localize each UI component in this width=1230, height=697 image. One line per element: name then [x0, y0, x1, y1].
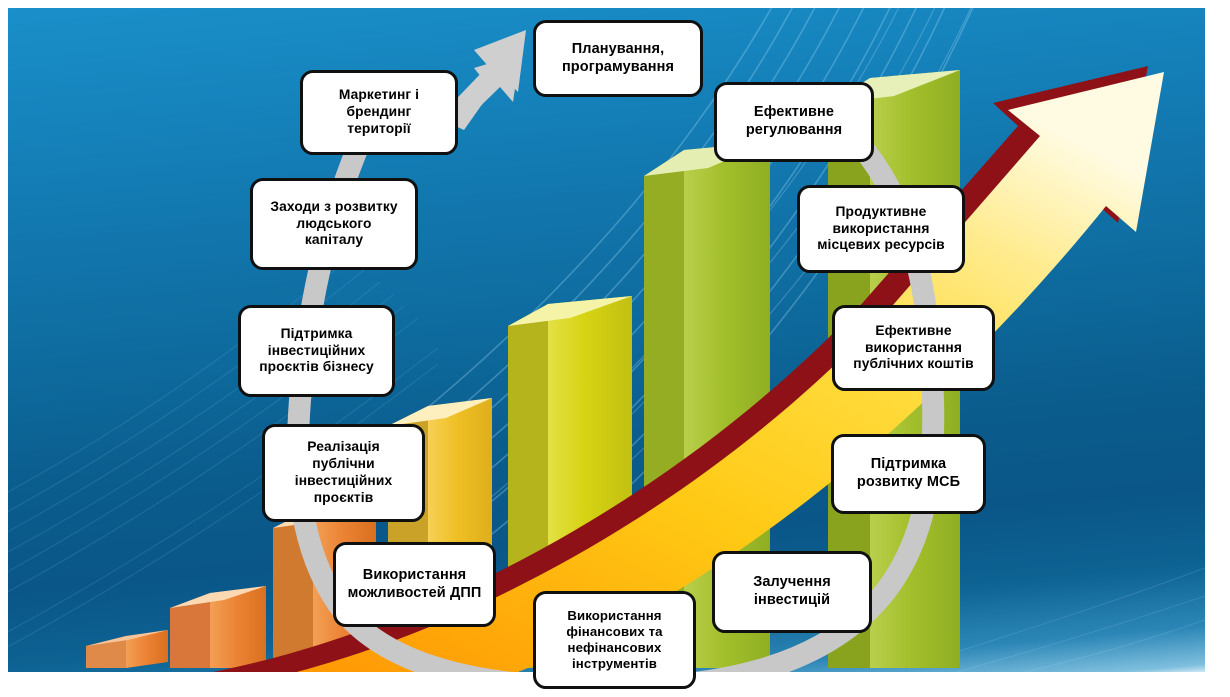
node-line: можливостей ДПП	[343, 585, 486, 603]
node-public-projects[interactable]: Реалізація публічни інвестиційних проєкт…	[262, 424, 425, 522]
node-line: Реалізація	[272, 439, 415, 456]
node-public-funds[interactable]: Ефективне використання публічних коштів	[832, 305, 995, 391]
node-line: Залучення	[722, 574, 862, 592]
node-line: програмування	[543, 59, 693, 77]
node-line: Продуктивне	[807, 204, 955, 221]
node-line: Маркетинг і	[310, 87, 448, 104]
node-line: людського	[260, 216, 408, 233]
node-line: Планування,	[543, 41, 693, 59]
node-line: Підтримка	[841, 456, 976, 474]
node-planning[interactable]: Планування, програмування	[533, 20, 703, 97]
node-regulation[interactable]: Ефективне регулювання	[714, 82, 874, 162]
node-line: фінансових та	[543, 624, 686, 640]
node-local-resources[interactable]: Продуктивне використання місцевих ресурс…	[797, 185, 965, 273]
node-line: публічних коштів	[842, 356, 985, 373]
node-line: використання	[842, 340, 985, 357]
node-line: інвестиційних	[248, 343, 385, 360]
node-line: проєктів бізнесу	[248, 359, 385, 376]
node-line: Підтримка	[248, 326, 385, 343]
node-line: території	[310, 121, 448, 138]
artwork-layer	[8, 8, 1205, 672]
node-line: Ефективне	[842, 323, 985, 340]
node-line: розвитку МСБ	[841, 474, 976, 492]
diagram-canvas: Маркетинг і брендинг території Плануванн…	[0, 0, 1230, 697]
node-line: інструментів	[543, 656, 686, 672]
node-business-investment[interactable]: Підтримка інвестиційних проєктів бізнесу	[238, 305, 395, 397]
node-line: Використання	[343, 567, 486, 585]
node-financial-instruments[interactable]: Використання фінансових та нефінансових …	[533, 591, 696, 689]
node-line: публічни	[272, 456, 415, 473]
node-line: використання	[807, 221, 955, 238]
node-sme-support[interactable]: Підтримка розвитку МСБ	[831, 434, 986, 514]
node-line: інвестицій	[722, 592, 862, 610]
gray-arrow-icon	[8, 8, 1205, 672]
node-line: проєктів	[272, 490, 415, 507]
node-attract-investment[interactable]: Залучення інвестицій	[712, 551, 872, 633]
node-line: капіталу	[260, 232, 408, 249]
node-line: інвестиційних	[272, 473, 415, 490]
node-marketing[interactable]: Маркетинг і брендинг території	[300, 70, 458, 155]
node-line: місцевих ресурсів	[807, 237, 955, 254]
node-line: нефінансових	[543, 640, 686, 656]
node-line: Ефективне	[724, 104, 864, 122]
node-line: брендинг	[310, 104, 448, 121]
node-line: регулювання	[724, 122, 864, 140]
node-line: Використання	[543, 608, 686, 624]
node-line: Заходи з розвитку	[260, 199, 408, 216]
node-ppp[interactable]: Використання можливостей ДПП	[333, 542, 496, 627]
node-human-capital[interactable]: Заходи з розвитку людського капіталу	[250, 178, 418, 270]
